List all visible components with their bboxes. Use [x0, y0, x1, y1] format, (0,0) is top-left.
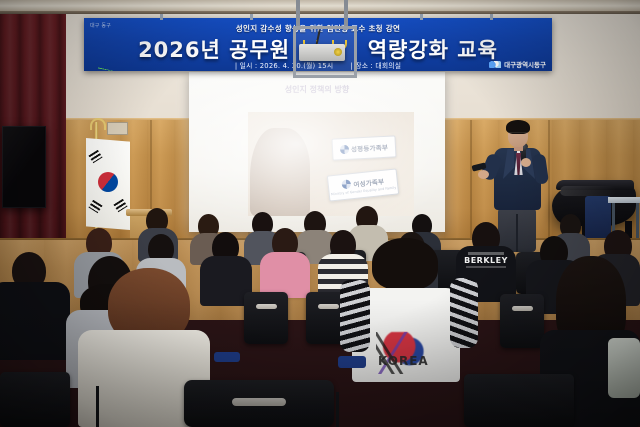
shirt-text-underline	[466, 266, 506, 268]
audience-striped-sleeve	[340, 280, 370, 352]
banner-org-text: 대구광역시동구	[504, 59, 546, 69]
chair-leg	[336, 392, 339, 427]
photo-scene: 성인지 정책의 방향 성평등가족부 여성가족부 Ministry of Gend…	[0, 0, 640, 427]
chair	[244, 292, 288, 344]
wood-seam	[470, 120, 472, 246]
wood-seam	[548, 120, 550, 246]
chair-leg	[96, 386, 99, 427]
banner-hanger	[160, 14, 163, 20]
chair-handle	[512, 306, 533, 311]
banner-hanger	[490, 14, 493, 20]
flag-pole-hook	[90, 118, 106, 130]
chair-handle	[318, 304, 339, 309]
dong-gu-logo-icon	[489, 61, 501, 68]
shirt-text-arc	[468, 252, 504, 255]
speaker-glasses-icon	[509, 132, 527, 138]
korean-flag	[86, 138, 130, 230]
audience-hair	[372, 238, 438, 290]
flag-trigram	[88, 150, 102, 163]
chair-handle	[232, 398, 286, 406]
monitor-glare	[2, 126, 44, 206]
speaker-leg-split	[516, 214, 518, 252]
flag-taeguk	[98, 172, 118, 192]
banner-title-right: 역량강화 교육	[368, 38, 498, 62]
audience-body	[0, 282, 70, 360]
screen-glare	[189, 72, 445, 232]
chair	[464, 374, 574, 427]
flag-trigram	[88, 200, 102, 213]
shirt-text-berkley: BERKLEY	[456, 256, 516, 265]
chair	[0, 372, 70, 427]
audience-draped-garment	[608, 338, 640, 398]
banner-title-left: 2026년 공무원	[138, 38, 290, 62]
speaker-left-hand	[478, 170, 489, 179]
projector-lens-icon	[334, 48, 342, 56]
banner-organization: 대구광역시동구	[489, 59, 546, 69]
speaker-right-hand	[521, 158, 531, 167]
chair-seat-cushion	[338, 356, 366, 368]
chair-seat-cushion	[214, 352, 240, 362]
wall-sign	[107, 122, 128, 135]
audience-striped-sleeve	[450, 278, 478, 348]
shirt-text-korea: KOREA	[378, 354, 429, 368]
chair-handle	[256, 304, 277, 309]
banner-hanger	[420, 14, 423, 20]
piano-reflection	[560, 186, 616, 196]
banner-place: | 장소 : 대회의실	[350, 62, 401, 70]
chair	[500, 294, 544, 348]
banner-hanger	[250, 14, 253, 20]
